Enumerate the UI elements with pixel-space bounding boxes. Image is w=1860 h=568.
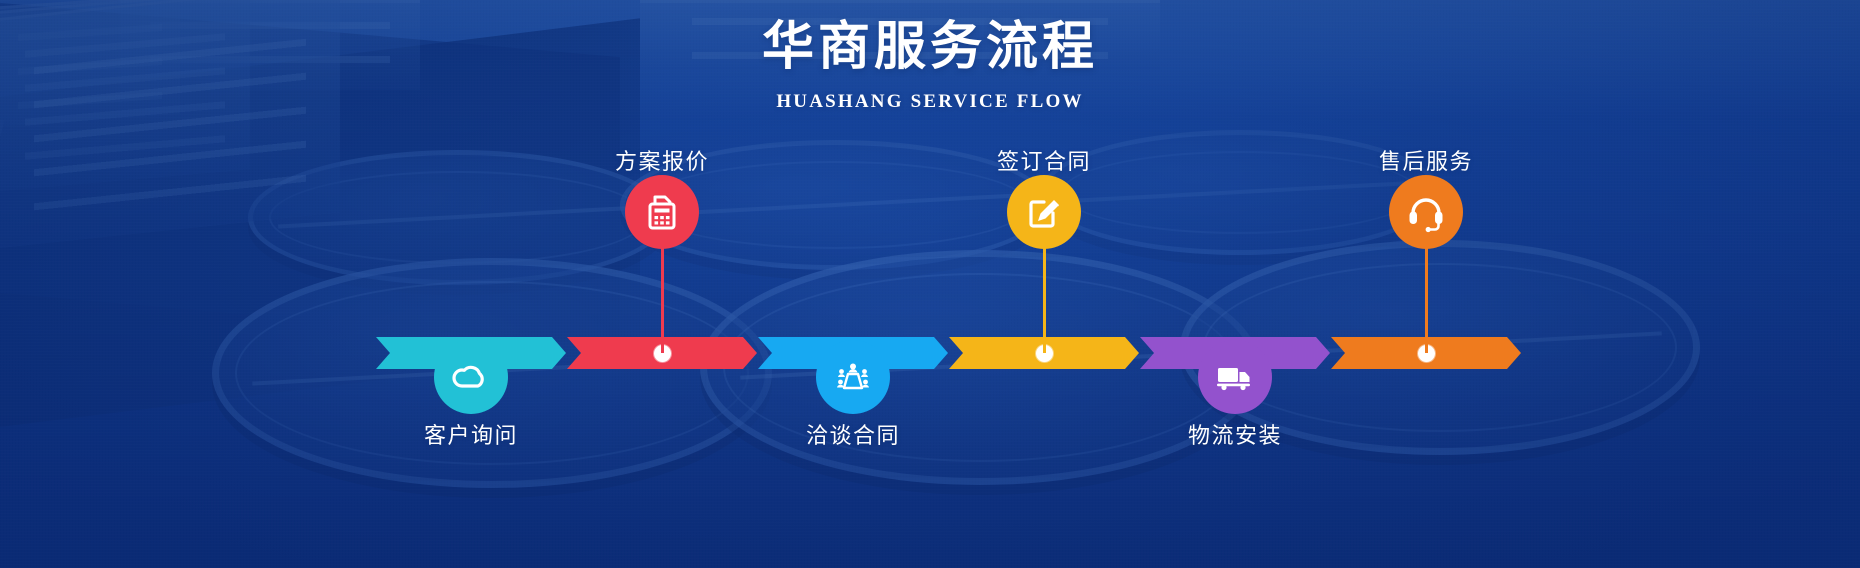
flow-step-icon-node-1[interactable]	[434, 340, 508, 414]
chevron-track	[376, 337, 1512, 369]
flow-step-icon-node-6[interactable]	[1389, 175, 1463, 249]
flow-step-label-3: 洽谈合同	[723, 418, 983, 450]
headset-icon	[1404, 190, 1448, 234]
flow-step-connector-6	[1425, 242, 1428, 353]
flow-step-icon-node-4[interactable]	[1007, 175, 1081, 249]
page-subtitle: HUASHANG SERVICE FLOW	[0, 91, 1860, 113]
calculator-icon	[641, 191, 683, 233]
truck-icon	[1213, 355, 1257, 399]
banner-header: 华商服务流程 HUASHANG SERVICE FLOW	[0, 18, 1860, 113]
page-title: 华商服务流程	[0, 18, 1860, 78]
flow-step-connector-4	[1043, 242, 1046, 353]
pen-sign-icon	[1023, 191, 1065, 233]
meeting-table-icon	[832, 356, 874, 398]
flow-step-label-6: 售后服务	[1296, 144, 1556, 176]
service-flow-banner: 华商服务流程 HUASHANG SERVICE FLOW 客户询问方案报价洽谈合…	[0, 0, 1860, 568]
flow-step-label-4: 签订合同	[914, 144, 1174, 176]
flow-step-icon-node-2[interactable]	[625, 175, 699, 249]
flow-step-label-5: 物流安装	[1105, 418, 1365, 450]
flow-step-label-1: 客户询问	[341, 418, 601, 450]
flow-step-icon-node-5[interactable]	[1198, 340, 1272, 414]
flow-step-label-2: 方案报价	[532, 144, 792, 176]
flow-step-connector-2	[661, 242, 664, 353]
flow-step-icon-node-3[interactable]	[816, 340, 890, 414]
cloud-chat-icon	[449, 355, 493, 399]
